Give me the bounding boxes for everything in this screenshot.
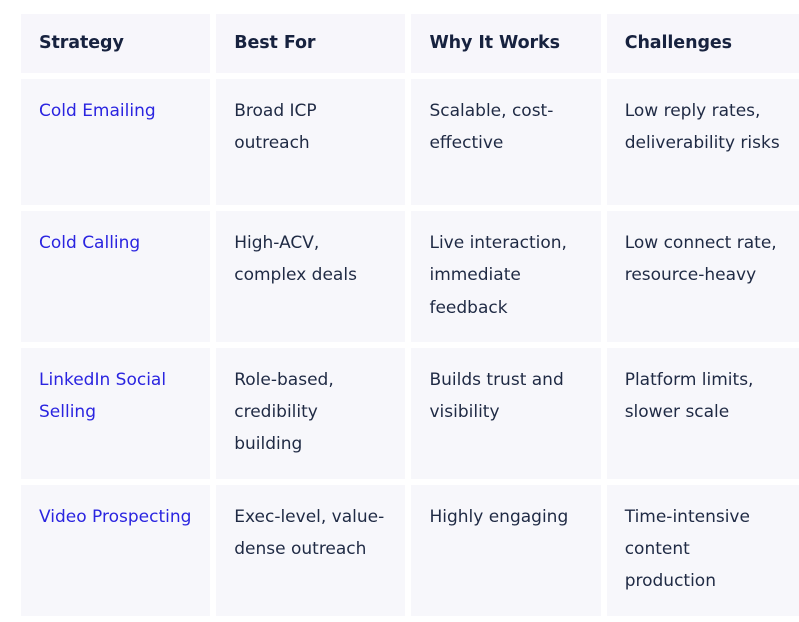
cell-text: Low connect rate, resource-heavy (625, 227, 781, 292)
cell-text: Low reply rates, deliverability risks (625, 95, 781, 160)
cell-text: Scalable, cost-effective (429, 95, 582, 160)
cell-best-for: Role-based, credibility building (216, 348, 405, 479)
column-header-challenges: Challenges (607, 14, 799, 73)
column-header-why-it-works: Why It Works (411, 14, 600, 73)
cell-strategy: Cold Calling (21, 211, 210, 342)
comparison-table-container: Strategy Best For Why It Works Challenge… (21, 14, 799, 616)
cell-text: Live interaction, immediate feedback (429, 227, 582, 324)
cell-text: Highly engaging (429, 501, 582, 533)
column-header-best-for: Best For (216, 14, 405, 73)
table-body: Cold Emailing Broad ICP outreach Scalabl… (21, 79, 799, 616)
cell-text: Role-based, credibility building (234, 364, 387, 461)
cell-text: Platform limits, slower scale (625, 364, 781, 429)
cell-challenges: Low reply rates, deliverability risks (607, 79, 799, 205)
table-row: Cold Calling High-ACV, complex deals Liv… (21, 211, 799, 342)
table-row: LinkedIn Social Selling Role-based, cred… (21, 348, 799, 479)
cell-best-for: Broad ICP outreach (216, 79, 405, 205)
cell-challenges: Low connect rate, resource-heavy (607, 211, 799, 342)
cell-why-it-works: Highly engaging (411, 485, 600, 616)
table-row: Cold Emailing Broad ICP outreach Scalabl… (21, 79, 799, 205)
cell-challenges: Platform limits, slower scale (607, 348, 799, 479)
cell-text: High-ACV, complex deals (234, 227, 387, 292)
cell-text: Time-intensive content production (625, 501, 781, 598)
cell-why-it-works: Scalable, cost-effective (411, 79, 600, 205)
cell-text: Broad ICP outreach (234, 95, 387, 160)
cell-why-it-works: Live interaction, immediate feedback (411, 211, 600, 342)
cell-strategy: LinkedIn Social Selling (21, 348, 210, 479)
strategy-link[interactable]: Video Prospecting (39, 507, 191, 527)
cell-best-for: High-ACV, complex deals (216, 211, 405, 342)
cell-text: Exec-level, value-dense outreach (234, 501, 387, 566)
table-row: Video Prospecting Exec-level, value-dens… (21, 485, 799, 616)
table-header: Strategy Best For Why It Works Challenge… (21, 14, 799, 73)
strategy-comparison-table: Strategy Best For Why It Works Challenge… (15, 8, 799, 622)
cell-strategy: Video Prospecting (21, 485, 210, 616)
cell-text: Builds trust and visibility (429, 364, 582, 429)
column-header-strategy: Strategy (21, 14, 210, 73)
cell-best-for: Exec-level, value-dense outreach (216, 485, 405, 616)
strategy-link[interactable]: LinkedIn Social Selling (39, 370, 166, 422)
cell-challenges: Time-intensive content production (607, 485, 799, 616)
cell-strategy: Cold Emailing (21, 79, 210, 205)
cell-why-it-works: Builds trust and visibility (411, 348, 600, 479)
table-header-row: Strategy Best For Why It Works Challenge… (21, 14, 799, 73)
strategy-link[interactable]: Cold Calling (39, 233, 140, 253)
strategy-link[interactable]: Cold Emailing (39, 101, 156, 121)
